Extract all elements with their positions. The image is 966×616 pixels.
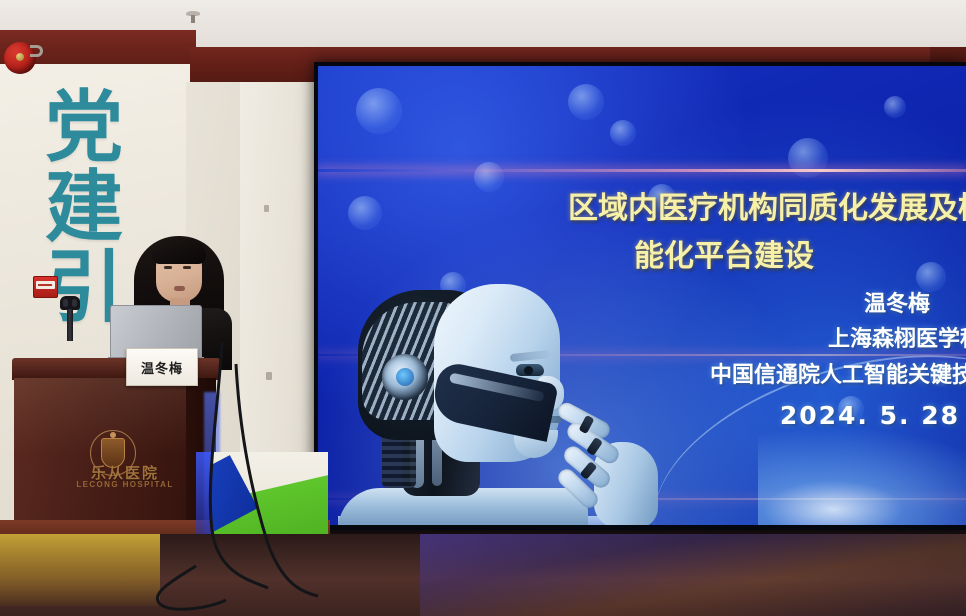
bokeh-orb [884,96,906,118]
bokeh-orb [568,84,604,120]
bokeh-orb [348,196,382,230]
slide-title-line1: 区域内医疗机构同质化发展及检验 [568,191,966,226]
bokeh-orb [356,88,402,134]
wall-nail [264,205,269,212]
presenter-eye-left [164,266,172,269]
slide-title-line2: 能化平台建设 [458,233,966,281]
slide-affiliation: 中国信通院人工智能关键技术推 [422,358,966,394]
presenter-eye-right [183,266,191,269]
floor-reflection-right [420,534,966,616]
fire-alarm-box-icon[interactable] [33,276,58,298]
slide-credits: 温冬梅 上海森栩医学科技 中国信通院人工智能关键技术推 2024. 5. 28 [478,288,966,438]
bokeh-orb [610,120,636,146]
slide-presenter-name: 温冬梅 [478,288,966,322]
slide-organization: 上海森栩医学科技 [478,322,966,358]
light-streak [318,169,966,172]
slide-title: 区域内医疗机构同质化发展及检验 能化平台建设 [458,185,966,281]
presenter-mouth [174,286,185,291]
alarm-bell-icon [4,42,38,76]
ceiling-sprinkler-icon [186,11,200,24]
presenter-fringe [152,238,206,264]
presentation-photo-scene: 党建引 [0,0,966,616]
slide-date: 2024. 5. 28 [478,394,966,438]
floor-cables [0,330,420,616]
bokeh-orb [788,138,828,178]
